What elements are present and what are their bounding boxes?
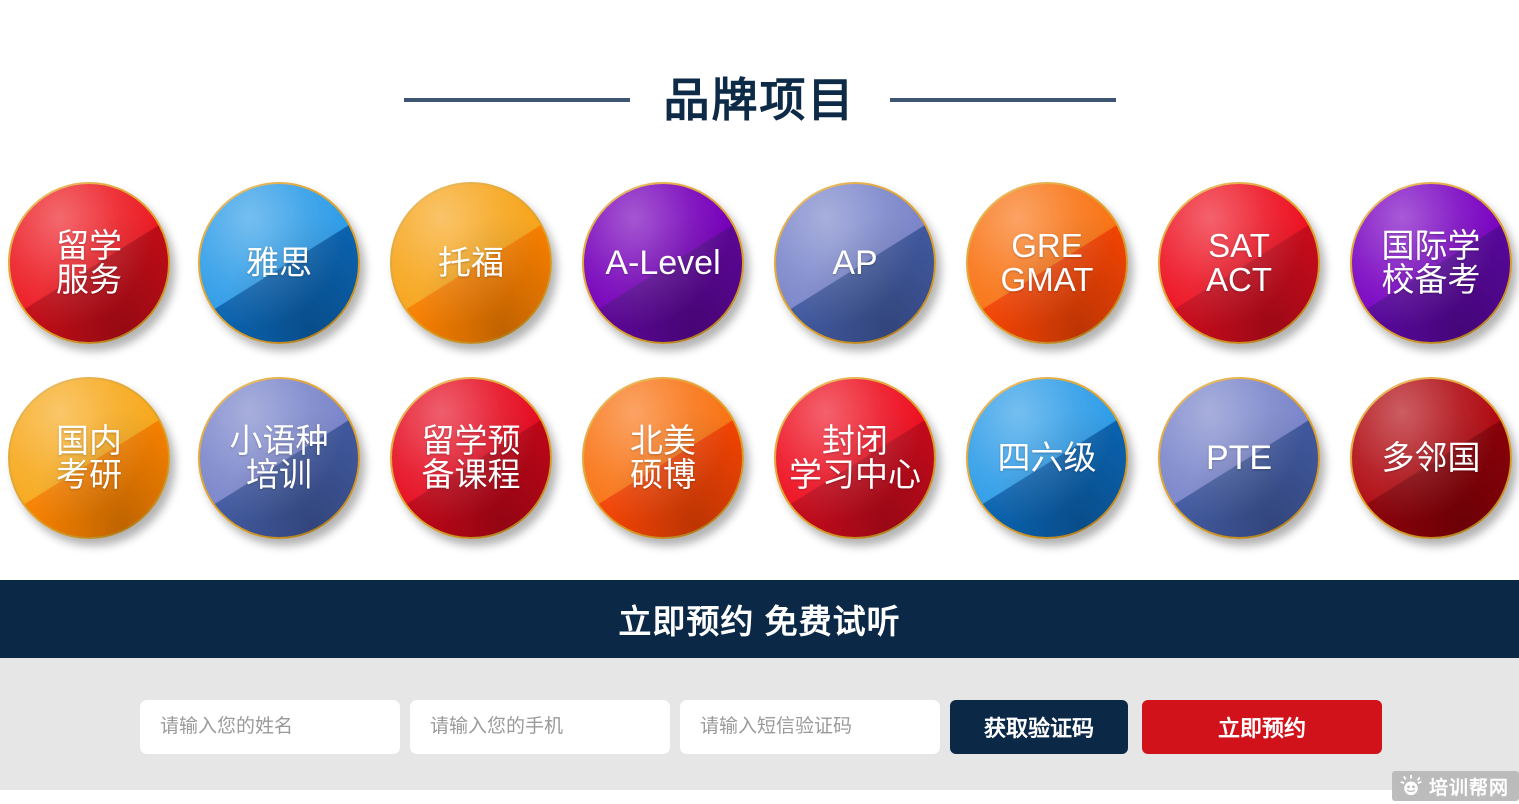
program-bubble[interactable]: 雅思 [198,182,360,344]
program-bubble[interactable]: 多邻国 [1350,377,1512,539]
sun-face-icon [1400,775,1422,797]
sms-code-input[interactable] [680,700,940,754]
name-input[interactable] [140,700,400,754]
program-bubble-label: GRE GMAT [1001,229,1094,296]
booking-banner-text: 立即预约 免费试听 [618,595,900,643]
program-bubble-label: 留学预 备课程 [422,424,521,491]
booking-form-strip: 获取验证码 立即预约 [0,658,1519,790]
program-bubble-label: 封闭 学习中心 [789,424,921,491]
program-bubble[interactable]: AP [774,182,936,344]
program-bubble[interactable]: PTE [1158,377,1320,539]
site-watermark: 培训帮网 [1392,771,1519,801]
program-row-1: 留学 服务雅思托福A-LevelAPGRE GMATSAT ACT国际学 校备考 [0,182,1519,377]
booking-banner: 立即预约 免费试听 [0,580,1519,658]
program-bubble[interactable]: 小语种 培训 [198,377,360,539]
page-title: 品牌项目 [664,77,856,123]
program-row-2: 国内 考研小语种 培训留学预 备课程北美 硕博封闭 学习中心四六级PTE多邻国 [0,377,1519,572]
program-bubble[interactable]: GRE GMAT [966,182,1128,344]
get-code-button[interactable]: 获取验证码 [950,700,1128,754]
program-bubble[interactable]: 国内 考研 [8,377,170,539]
program-grid: 留学 服务雅思托福A-LevelAPGRE GMATSAT ACT国际学 校备考… [0,182,1519,572]
booking-form: 获取验证码 立即预约 [140,700,1382,754]
program-bubble[interactable]: 留学 服务 [8,182,170,344]
program-bubble[interactable]: SAT ACT [1158,182,1320,344]
program-bubble-label: 北美 硕博 [630,424,696,491]
phone-input[interactable] [410,700,670,754]
title-rule-left [404,98,630,102]
section-title: 品牌项目 [0,60,1519,140]
program-bubble[interactable]: 留学预 备课程 [390,377,552,539]
program-bubble-label: AP [832,246,877,281]
program-bubble-label: A-Level [605,246,720,281]
submit-booking-button[interactable]: 立即预约 [1142,700,1382,754]
program-bubble[interactable]: 四六级 [966,377,1128,539]
program-bubble-label: 多邻国 [1382,441,1481,475]
program-bubble-label: 留学 服务 [56,229,122,296]
watermark-label: 培训帮网 [1429,773,1509,800]
program-bubble[interactable]: 托福 [390,182,552,344]
program-bubble-label: 雅思 [246,246,312,280]
program-bubble[interactable]: 国际学 校备考 [1350,182,1512,344]
program-bubble[interactable]: A-Level [582,182,744,344]
program-bubble-label: 四六级 [998,441,1097,475]
program-bubble-label: 小语种 培训 [230,424,329,491]
title-rule-right [890,98,1116,102]
program-bubble-label: SAT ACT [1206,229,1272,296]
page-root: 品牌项目 留学 服务雅思托福A-LevelAPGRE GMATSAT ACT国际… [0,0,1519,804]
program-bubble-label: 国内 考研 [56,424,122,491]
program-bubble[interactable]: 北美 硕博 [582,377,744,539]
program-bubble[interactable]: 封闭 学习中心 [774,377,936,539]
program-bubble-label: 托福 [438,246,504,280]
program-bubble-label: 国际学 校备考 [1382,229,1481,296]
program-bubble-label: PTE [1206,441,1272,476]
